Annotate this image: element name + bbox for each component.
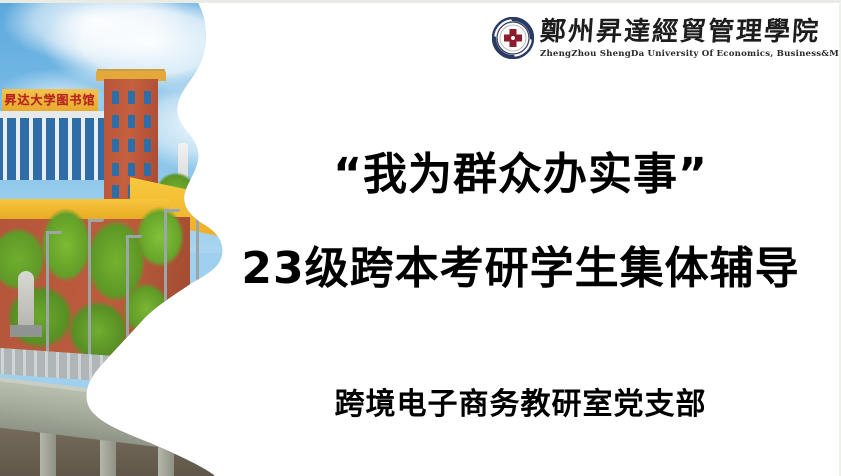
library-building-sign: 昇达大学图书馆 (2, 89, 98, 111)
tower-window (112, 139, 119, 152)
slide-subtitle: 跨境电子商务教研室党支部 (200, 385, 841, 425)
tower-window (128, 139, 135, 152)
library-glass-facade (0, 111, 120, 180)
lamp-post (164, 209, 167, 329)
tower-window (144, 139, 151, 152)
tower-window (112, 185, 119, 198)
title-line-1: “我为群众办实事” (200, 147, 841, 203)
tower-window (128, 163, 135, 176)
university-logo: 鄭州昇達經貿管理學院 ZhengZhou ShengDa University … (492, 9, 840, 67)
university-name-english: ZhengZhou ShengDa University Of Economic… (540, 48, 841, 60)
bridge-pier (158, 443, 174, 476)
university-logo-text: 鄭州昇達經貿管理學院 ZhengZhou ShengDa University … (540, 17, 841, 60)
presentation-slide: 昇达大学图书馆 (0, 0, 841, 476)
university-name-chinese: 鄭州昇達經貿管理學院 (539, 17, 841, 47)
tower-window (112, 163, 119, 176)
tower-window (144, 115, 151, 128)
title-line-2: 23级跨本考研学生集体辅导 (200, 241, 841, 297)
lamp-post (88, 219, 91, 361)
tower-window (112, 115, 119, 128)
statue-base (10, 325, 42, 337)
tower-window (112, 91, 119, 104)
lamp-post (126, 235, 129, 361)
tower-window (144, 91, 151, 104)
lamp-post (46, 231, 49, 361)
university-seal-icon (492, 17, 534, 59)
campus-statue (18, 271, 34, 327)
tower-window (128, 91, 135, 104)
slide-title-block: “我为群众办实事” 23级跨本考研学生集体辅导 (200, 147, 841, 297)
lamp-post (196, 201, 199, 301)
tower-window (128, 115, 135, 128)
